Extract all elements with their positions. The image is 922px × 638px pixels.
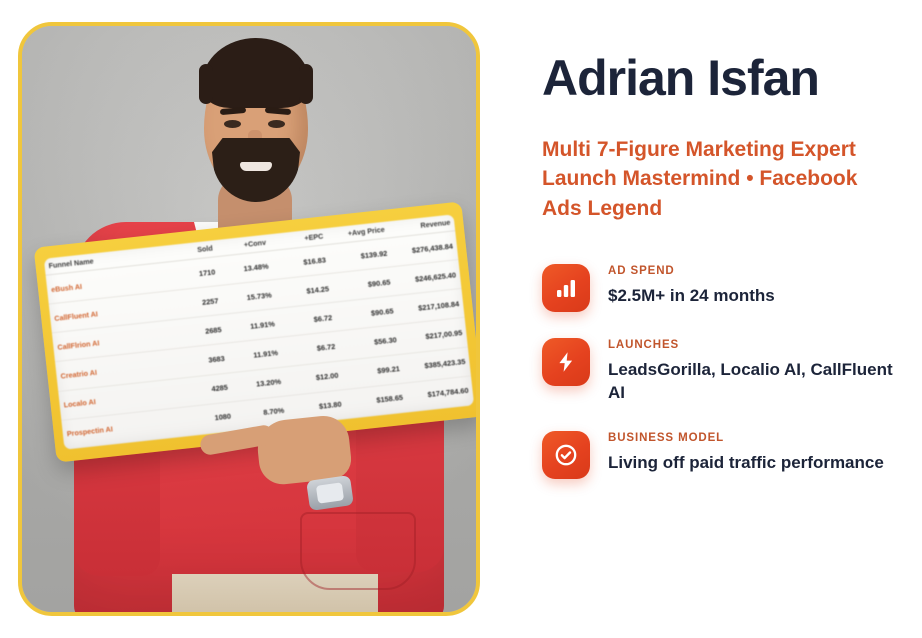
feature-value: Living off paid traffic performance bbox=[608, 451, 884, 474]
feature-launches: LAUNCHES LeadsGorilla, Localio AI, CallF… bbox=[542, 338, 900, 405]
hair bbox=[202, 38, 310, 108]
feature-label: AD SPEND bbox=[608, 265, 775, 277]
cell-sold: 3683 bbox=[186, 343, 230, 376]
eye-right bbox=[268, 120, 285, 128]
feature-value: $2.5M+ in 24 months bbox=[608, 284, 775, 307]
photo-column: Funnel Name Sold +Conv +EPC +Avg Price R… bbox=[0, 0, 510, 638]
feature-text: LAUNCHES LeadsGorilla, Localio AI, CallF… bbox=[608, 338, 900, 405]
feature-ad-spend: AD SPEND $2.5M+ in 24 months bbox=[542, 264, 900, 312]
cell-sold: 1710 bbox=[177, 257, 221, 290]
cell-sold: 4285 bbox=[189, 372, 233, 405]
check-circle-icon bbox=[542, 431, 590, 479]
metrics-sign: Funnel Name Sold +Conv +EPC +Avg Price R… bbox=[34, 201, 480, 462]
feature-label: LAUNCHES bbox=[608, 339, 900, 351]
cell-avg-price: $158.65 bbox=[344, 383, 409, 419]
profile-card: Funnel Name Sold +Conv +EPC +Avg Price R… bbox=[0, 0, 922, 638]
feature-label: BUSINESS MODEL bbox=[608, 432, 884, 444]
profile-tagline: Multi 7-Figure Marketing Expert Launch M… bbox=[542, 135, 900, 224]
feature-business-model: BUSINESS MODEL Living off paid traffic p… bbox=[542, 431, 900, 479]
cell-sold: 2685 bbox=[183, 314, 227, 347]
cell-sold: 2257 bbox=[180, 286, 224, 319]
bar-chart-icon bbox=[542, 264, 590, 312]
blazer-pocket bbox=[300, 512, 416, 590]
feature-text: AD SPEND $2.5M+ in 24 months bbox=[608, 264, 775, 307]
metrics-sheet: Funnel Name Sold +Conv +EPC +Avg Price R… bbox=[44, 214, 474, 449]
info-column: Adrian Isfan Multi 7-Figure Marketing Ex… bbox=[510, 0, 922, 638]
funnel-metrics-table: Funnel Name Sold +Conv +EPC +Avg Price R… bbox=[44, 214, 474, 449]
cell-revenue: $174,784.60 bbox=[405, 376, 474, 412]
eye-left bbox=[224, 120, 241, 128]
page-title: Adrian Isfan bbox=[542, 52, 900, 105]
feature-text: BUSINESS MODEL Living off paid traffic p… bbox=[608, 431, 884, 474]
photo-card: Funnel Name Sold +Conv +EPC +Avg Price R… bbox=[18, 22, 480, 616]
wristwatch bbox=[306, 475, 354, 511]
lightning-bolt-icon bbox=[542, 338, 590, 386]
mouth bbox=[240, 162, 272, 171]
feature-value: LeadsGorilla, Localio AI, CallFluent AI bbox=[608, 358, 900, 405]
